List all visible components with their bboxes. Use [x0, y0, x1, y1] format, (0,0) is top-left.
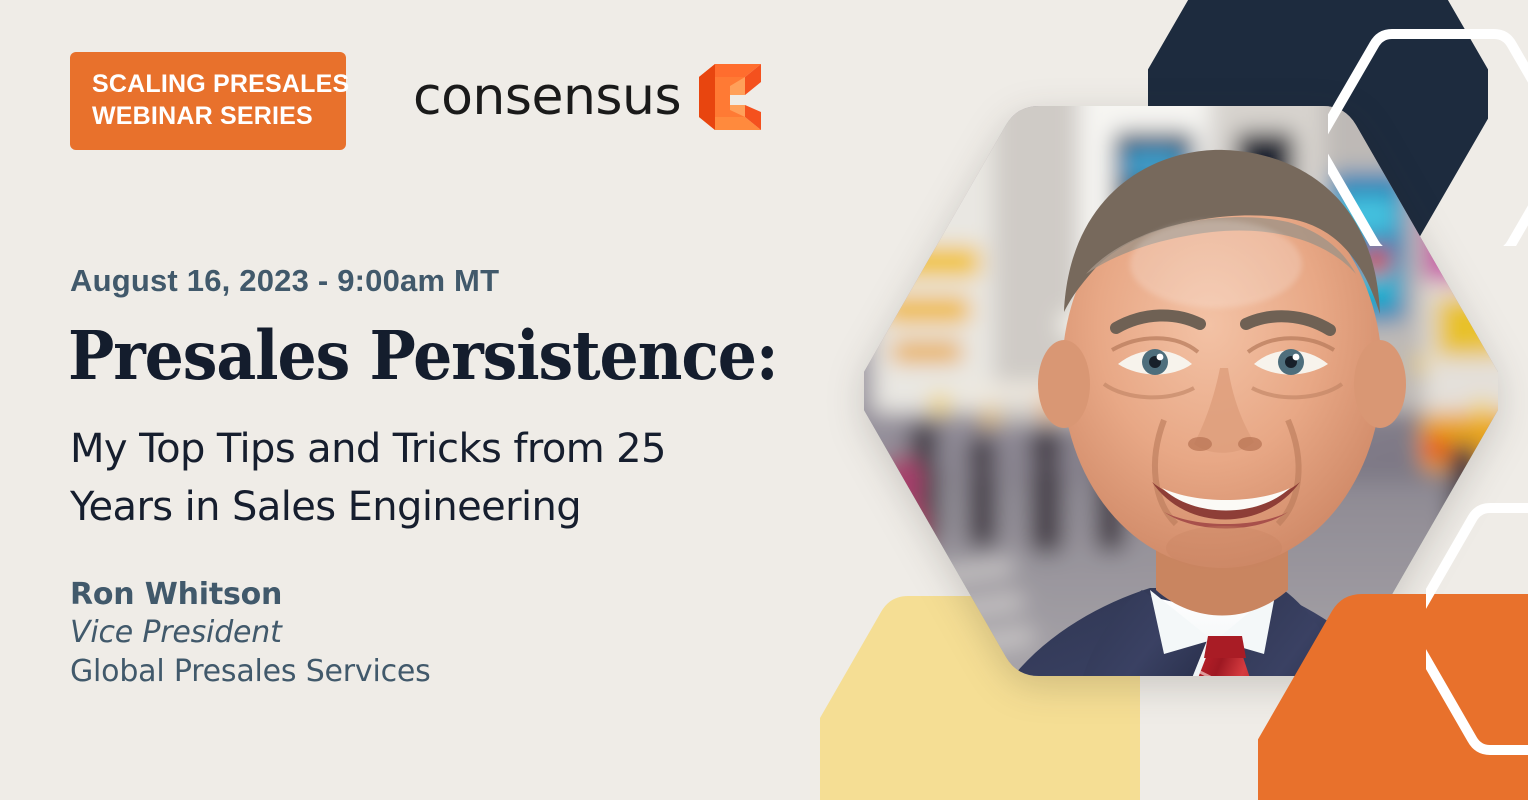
- series-badge-line-1: SCALING PRESALES: [92, 68, 324, 100]
- series-badge-line-2: WEBINAR SERIES: [92, 100, 324, 132]
- consensus-logo[interactable]: consensus: [413, 64, 761, 130]
- page-subtitle-line-2: Years in Sales Engineering: [70, 478, 790, 536]
- page-subtitle: My Top Tips and Tricks from 25 Years in …: [70, 420, 790, 536]
- speaker-role: Vice President: [70, 614, 431, 652]
- consensus-wordmark: consensus: [413, 71, 681, 123]
- outline-hexagon-decor-top: [1328, 26, 1528, 246]
- event-datetime: August 16, 2023 - 9:00am MT: [70, 263, 499, 299]
- content-column: SCALING PRESALES WEBINAR SERIES consensu…: [0, 0, 840, 800]
- page-title: Presales Persistence:: [68, 322, 778, 389]
- decorative-art-panel: [828, 0, 1528, 800]
- speaker-name: Ron Whitson: [70, 576, 431, 614]
- consensus-c-logomark: [699, 64, 761, 130]
- speaker-credits: Ron Whitson Vice President Global Presal…: [70, 576, 431, 691]
- webinar-promo-graphic: SCALING PRESALES WEBINAR SERIES consensu…: [0, 0, 1528, 800]
- series-badge: SCALING PRESALES WEBINAR SERIES: [70, 52, 346, 150]
- outline-hexagon-decor-bottom: [1426, 500, 1528, 760]
- speaker-department: Global Presales Services: [70, 653, 431, 691]
- page-subtitle-line-1: My Top Tips and Tricks from 25: [70, 420, 790, 478]
